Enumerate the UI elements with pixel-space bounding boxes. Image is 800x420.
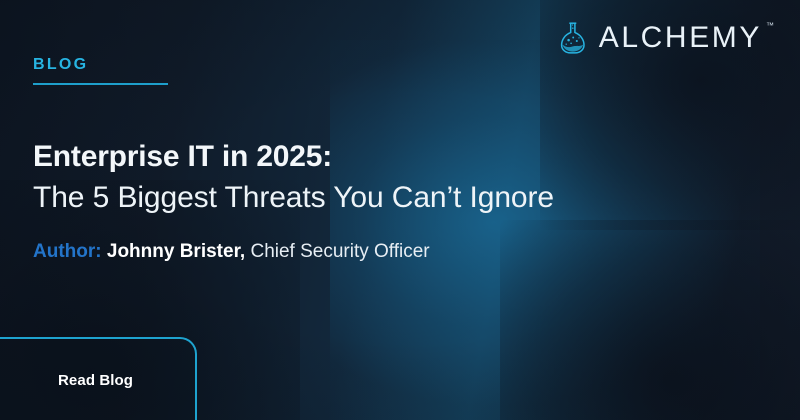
blog-promo-banner: ALCHEMY ™ BLOG Enterprise IT in 2025: Th… bbox=[0, 0, 800, 420]
page-title: Enterprise IT in 2025: The 5 Biggest Thr… bbox=[33, 140, 753, 216]
author-byline: Author: Johnny Brister, Chief Security O… bbox=[33, 240, 430, 265]
headline-secondary: The 5 Biggest Threats You Can’t Ignore bbox=[33, 179, 753, 217]
read-blog-button[interactable]: Read Blog bbox=[0, 337, 197, 420]
read-blog-label: Read Blog bbox=[58, 372, 133, 389]
flask-icon bbox=[559, 20, 590, 55]
author-role: Chief Security Officer bbox=[250, 241, 429, 262]
headline-primary: Enterprise IT in 2025: bbox=[33, 140, 753, 175]
author-name: Johnny Brister, bbox=[107, 241, 245, 262]
brand-logo[interactable]: ALCHEMY ™ bbox=[559, 20, 774, 55]
eyebrow: BLOG bbox=[33, 57, 168, 85]
eyebrow-label: BLOG bbox=[33, 57, 168, 73]
brand-name: ALCHEMY bbox=[599, 21, 762, 54]
brand-wordmark: ALCHEMY ™ bbox=[599, 23, 774, 53]
eyebrow-divider bbox=[33, 83, 168, 85]
trademark-symbol: ™ bbox=[766, 22, 774, 30]
author-label: Author: bbox=[33, 241, 102, 262]
